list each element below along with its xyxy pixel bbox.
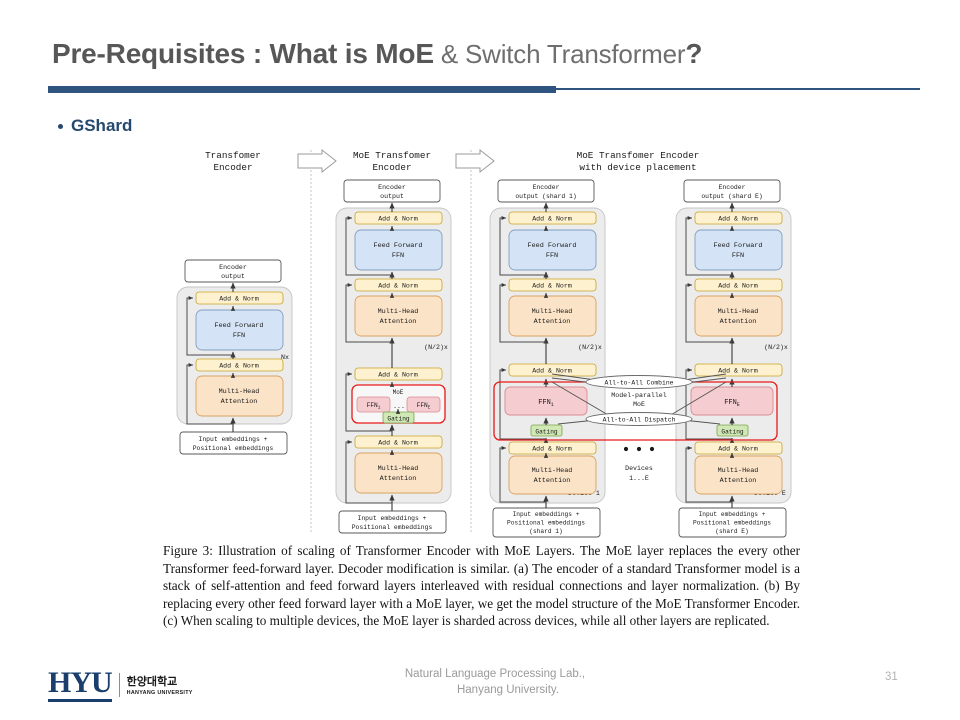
device-1-ffn-line2: FFN: [546, 252, 558, 260]
device-1-attn-2-line1: Multi-Head: [532, 467, 573, 475]
panel-a-input-line1: Input embeddings +: [198, 436, 267, 443]
panel-b-attention-box-1: [355, 296, 442, 336]
panel-b-repeat-label: (N/2)x: [424, 344, 448, 351]
model-parallel-moe-label-line1: Model-parallel: [611, 392, 666, 399]
panel-b-add-norm-2-label: Add & Norm: [378, 283, 418, 290]
device-1-attn-1-line1: Multi-Head: [532, 308, 573, 316]
device-1-gating-label: Gating: [535, 428, 558, 435]
device-e-attn-2-line1: Multi-Head: [718, 467, 759, 475]
panel-b-feed-forward-line1: Feed Forward: [374, 242, 423, 250]
device-e-repeat-label: (N/2)x: [764, 344, 788, 351]
device-1-feed-forward-box: [509, 230, 596, 270]
panel-b-heading-line2: Encoder: [372, 162, 411, 173]
device-1-attention-box-2: [509, 456, 596, 494]
panel-b-add-norm-4-label: Add & Norm: [378, 440, 418, 447]
device-1-attn-1-line2: Attention: [534, 318, 571, 326]
panel-a-transformer-encoder: Transfomer Encoder Encoder output Nx Add…: [177, 150, 292, 454]
panel-a-add-norm-bottom-label: Add & Norm: [219, 363, 259, 370]
page-title-secondary: & Switch Transformer: [434, 39, 686, 69]
figure-moe-transformer-encoder: Transfomer Encoder Encoder output Nx Add…: [160, 142, 806, 542]
panel-c-heading-line1: MoE Transfomer Encoder: [577, 150, 700, 161]
hyu-logo-text: HYU: [48, 668, 112, 702]
devices-ellipsis-icon: [624, 447, 654, 451]
hyu-logo-korean: 한양대학교: [127, 675, 178, 688]
panel-a-encoder-output-line1: Encoder: [219, 264, 247, 271]
bullet-label: GShard: [71, 116, 132, 136]
panel-b-attention-2-line1: Multi-Head: [378, 465, 419, 473]
device-e-column: Encoder output (shard E) (N/2)x Device E…: [676, 180, 791, 537]
panel-b-heading-line1: MoE Transfomer: [353, 150, 431, 161]
panel-b-feed-forward-box: [355, 230, 442, 270]
bullet-dot-icon: [58, 124, 63, 129]
device-e-output-line2: output (shard E): [701, 193, 762, 200]
panel-b-attention-1-line1: Multi-Head: [378, 308, 419, 316]
device-e-output-line1: Encoder: [719, 184, 746, 191]
page-title-question-mark: ?: [685, 38, 702, 69]
panel-b-gating-label: Gating: [387, 415, 410, 422]
device-e-input-line2: Positional embeddings: [693, 520, 771, 527]
device-e-attn-2-line2: Attention: [720, 477, 757, 485]
device-1-column: Encoder output (shard 1) (N/2)x Device 1…: [490, 180, 605, 537]
hyu-logo-english: HANYANG UNIVERSITY: [127, 691, 193, 697]
footer-lab-line2: Hanyang University.: [330, 683, 660, 699]
device-1-add-norm-2-label: Add & Norm: [532, 283, 572, 290]
device-1-add-norm-4-label: Add & Norm: [532, 446, 572, 453]
panel-b-encoder-output-line2: output: [380, 193, 404, 200]
device-e-attn-1-line1: Multi-Head: [718, 308, 759, 316]
device-1-output-line2: output (shard 1): [515, 193, 576, 200]
device-1-repeat-label: (N/2)x: [578, 344, 602, 351]
panel-a-feed-forward-box: [196, 310, 283, 350]
title-underline-thick: [48, 86, 556, 93]
hyu-logo-korean-block: 한양대학교 HANYANG UNIVERSITY: [119, 673, 193, 696]
panel-a-heading-line1: Transfomer: [205, 150, 261, 161]
device-1-output-line1: Encoder: [533, 184, 560, 191]
device-e-add-norm-2-label: Add & Norm: [718, 283, 758, 290]
panel-b-input-line1: Input embeddings +: [357, 515, 426, 522]
panel-a-heading-line2: Encoder: [213, 162, 252, 173]
panel-b-attention-box-2: [355, 453, 442, 493]
all-to-all-dispatch-label: All-to-All Dispatch: [603, 417, 676, 424]
panel-b-add-norm-3-label: Add & Norm: [378, 372, 418, 379]
panel-a-feed-forward-line2: FFN: [233, 332, 245, 340]
devices-range-line1: Devices: [625, 465, 653, 472]
transition-arrow-2: [456, 150, 494, 172]
panel-a-add-norm-top-label: Add & Norm: [219, 296, 259, 303]
hyu-logo: HYU 한양대학교 HANYANG UNIVERSITY: [48, 668, 193, 702]
device-e-ffn-line1: Feed Forward: [714, 242, 763, 250]
all-to-all-combine-label: All-to-All Combine: [604, 380, 673, 387]
device-e-gating-label: Gating: [721, 428, 744, 435]
device-1-ffn-line1: Feed Forward: [528, 242, 577, 250]
transition-arrow-1: [298, 150, 336, 172]
panel-a-attention-box: [196, 376, 283, 416]
device-1-add-norm-1-label: Add & Norm: [532, 216, 572, 223]
device-e-input-line1: Input embeddings +: [699, 511, 766, 518]
panel-b-encoder-output-line1: Encoder: [378, 184, 406, 191]
panel-b-expert-dots: ...: [393, 403, 405, 410]
panel-b-attention-1-line2: Attention: [380, 318, 417, 326]
devices-range-line2: 1...E: [629, 475, 649, 482]
device-e-ffn-line2: FFN: [732, 252, 744, 260]
device-1-input-line2: Positional embeddings: [507, 520, 585, 527]
device-e-input-line3: (shard E): [715, 528, 748, 535]
panel-a-feed-forward-line1: Feed Forward: [215, 322, 264, 330]
panel-b-add-norm-1-label: Add & Norm: [378, 216, 418, 223]
device-1-add-norm-3-label: Add & Norm: [532, 368, 572, 375]
panel-b-feed-forward-line2: FFN: [392, 252, 404, 260]
panel-b-moe-label: MoE: [393, 389, 404, 396]
panel-b-moe-transformer-encoder: MoE Transfomer Encoder Encoder output (N…: [336, 150, 451, 533]
panel-b-attention-2-line2: Attention: [380, 475, 417, 483]
footer-lab-line1: Natural Language Processing Lab.,: [405, 668, 585, 680]
panel-a-encoder-output-line2: output: [221, 273, 245, 280]
page-title-main: Pre-Requisites : What is MoE: [52, 38, 434, 69]
device-e-attention-box-2: [695, 456, 782, 494]
device-1-input-line3: (shard 1): [529, 528, 562, 535]
device-e-add-norm-1-label: Add & Norm: [718, 216, 758, 223]
device-e-add-norm-3-label: Add & Norm: [718, 368, 758, 375]
page-title: Pre-Requisites : What is MoE & Switch Tr…: [52, 38, 702, 70]
panel-a-attention-line2: Attention: [221, 398, 258, 406]
device-1-input-line1: Input embeddings +: [513, 511, 580, 518]
panel-a-input-line2: Positional embeddings: [193, 445, 274, 452]
panel-c-heading-line2: with device placement: [579, 162, 696, 173]
panel-a-attention-line1: Multi-Head: [219, 388, 260, 396]
device-e-add-norm-4-label: Add & Norm: [718, 446, 758, 453]
title-underline-thin: [556, 88, 920, 90]
device-1-attention-box-1: [509, 296, 596, 336]
page-number: 31: [885, 671, 898, 683]
device-e-attn-1-line2: Attention: [720, 318, 757, 326]
figure-caption: Figure 3: Illustration of scaling of Tra…: [163, 542, 800, 630]
footer-lab-info: Natural Language Processing Lab., Hanyan…: [330, 667, 660, 698]
device-e-feed-forward-box: [695, 230, 782, 270]
model-parallel-moe-label-line2: MoE: [633, 401, 645, 408]
device-e-attention-box-1: [695, 296, 782, 336]
panel-c-moe-device-placement: MoE Transfomer Encoder with device place…: [490, 150, 791, 537]
bullet-item-gshard: GShard: [58, 116, 132, 136]
panel-b-input-line2: Positional embeddings: [352, 524, 433, 531]
device-1-attn-2-line2: Attention: [534, 477, 571, 485]
